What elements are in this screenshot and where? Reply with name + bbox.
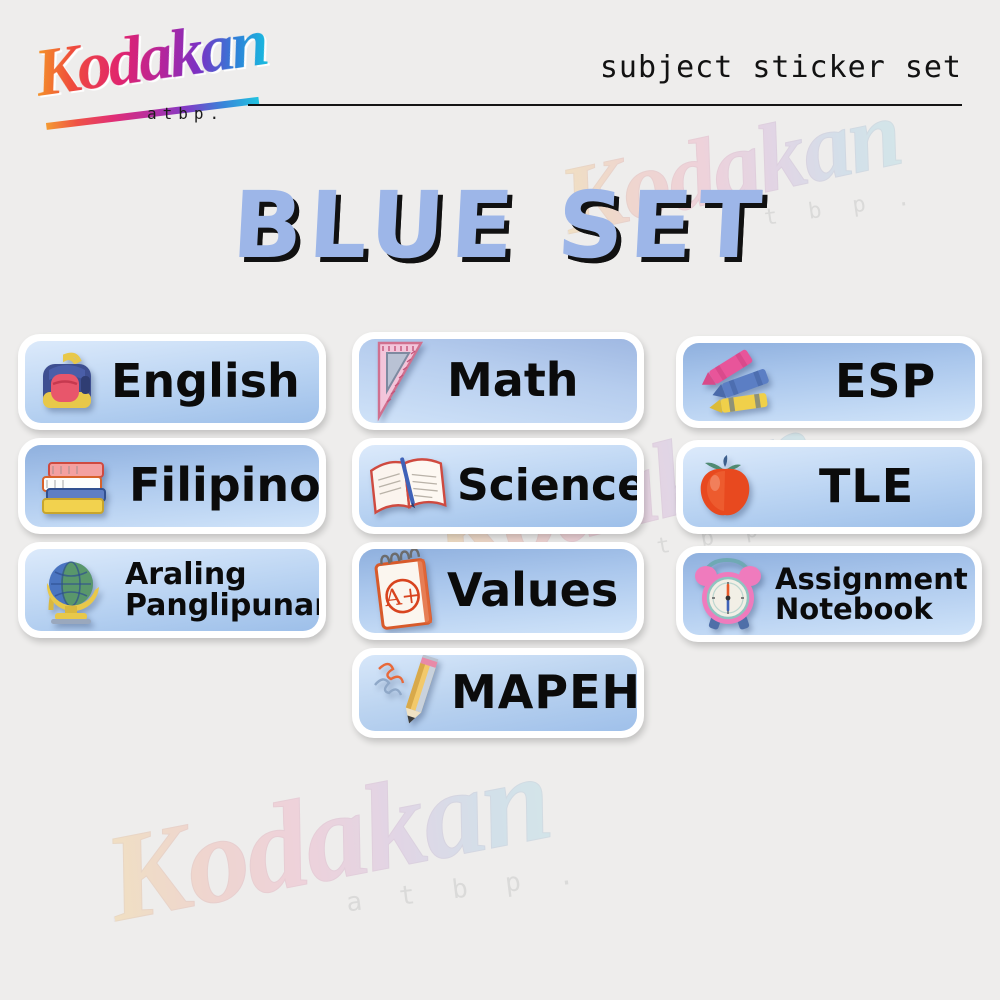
sticker-label: Math [447, 358, 579, 403]
sticker-label: English [111, 359, 300, 404]
sticker-label: ESP [835, 359, 936, 404]
sticker-grid: English [0, 0, 1000, 1000]
books-stack-icon [35, 455, 115, 517]
sticker-tle[interactable]: TLE [676, 440, 982, 534]
sticker-label: TLE [819, 464, 914, 509]
notepad-aplus-icon: A+ [369, 550, 437, 632]
sticker-label: Science [457, 464, 637, 507]
sticker-english[interactable]: English [18, 334, 326, 430]
globe-icon [35, 552, 107, 628]
crayons-icon [693, 346, 781, 418]
sticker-values[interactable]: A+ Values [352, 542, 644, 640]
apple-icon [693, 453, 757, 521]
sticker-label: Values [447, 568, 618, 613]
sticker-label: Filipino [129, 463, 319, 508]
sticker-mapeh[interactable]: MAPEH [352, 648, 644, 738]
pencil-scribble-icon [369, 655, 449, 731]
sticker-assignment-notebook[interactable]: Assignment Notebook [676, 546, 982, 642]
sticker-label: MAPEH [451, 670, 637, 715]
alarm-clock-icon [693, 554, 765, 634]
notepad-grade-text: A+ [382, 582, 422, 612]
sticker-math[interactable]: Math [352, 332, 644, 430]
backpack-icon [35, 348, 101, 416]
sticker-sheet: Kodakan a t b p . Kodakan a t b p . Koda… [0, 0, 1000, 1000]
sticker-science[interactable]: Science [352, 438, 644, 534]
open-book-icon [369, 453, 447, 519]
sticker-esp[interactable]: ESP [676, 336, 982, 428]
triangle-ruler-icon [369, 339, 433, 423]
sticker-label: Assignment Notebook [775, 564, 968, 624]
sticker-label: Araling Panglipunan [125, 559, 319, 621]
sticker-araling-panglipunan[interactable]: Araling Panglipunan [18, 542, 326, 638]
sticker-filipino[interactable]: Filipino [18, 438, 326, 534]
